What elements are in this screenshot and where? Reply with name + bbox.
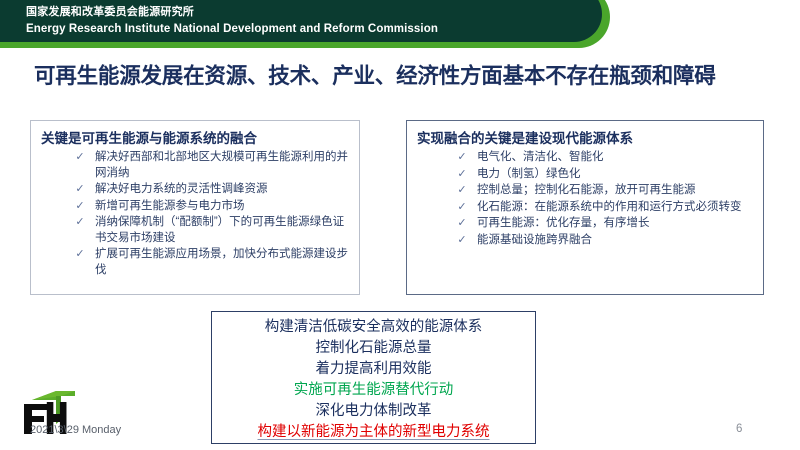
list-item-label: 能源基础设施跨界融合	[477, 233, 763, 249]
right-box-heading: 实现融合的关键是建设现代能源体系	[417, 127, 763, 147]
list-item-label: 可再生能源：优化存量，有序增长	[477, 216, 763, 232]
page-number: 6	[736, 423, 742, 435]
check-icon: ✓	[73, 199, 87, 215]
summary-line: 深化电力体制改革	[212, 401, 535, 422]
list-item: ✓ 解决好西部和北部地区大规模可再生能源利用的并网消纳	[31, 150, 359, 181]
check-icon: ✓	[455, 200, 469, 216]
check-icon: ✓	[455, 167, 469, 183]
date-label: 2021\3\29 Monday	[30, 424, 121, 436]
list-item: ✓ 可再生能源：优化存量，有序增长	[407, 216, 763, 232]
list-item-label: 扩展可再生能源应用场景，加快分布式能源建设步伐	[95, 247, 359, 278]
summary-line: 构建清洁低碳安全高效的能源体系	[212, 317, 535, 338]
list-item-label: 消纳保障机制（“配额制”）下的可再生能源绿色证书交易市场建设	[95, 215, 359, 246]
list-item-label: 化石能源：在能源系统中的作用和运行方式必须转变	[477, 200, 763, 216]
check-icon: ✓	[455, 183, 469, 199]
check-icon: ✓	[73, 215, 87, 231]
list-item-label: 电气化、清洁化、智能化	[477, 150, 763, 166]
left-content-box: 关键是可再生能源与能源系统的融合 ✓ 解决好西部和北部地区大规模可再生能源利用的…	[30, 120, 360, 295]
right-content-box: 实现融合的关键是建设现代能源体系 ✓ 电气化、清洁化、智能化 ✓ 电力（制氢）绿…	[406, 120, 764, 295]
left-box-bullet-list: ✓ 解决好西部和北部地区大规模可再生能源利用的并网消纳 ✓ 解决好电力系统的灵活…	[31, 150, 359, 278]
check-icon: ✓	[73, 182, 87, 198]
header-text-group: 国家发展和改革委员会能源研究所 Energy Research Institut…	[26, 5, 438, 37]
list-item-label: 电力（制氢）绿色化	[477, 167, 763, 183]
page-header: 国家发展和改革委员会能源研究所 Energy Research Institut…	[0, 0, 620, 48]
list-item: ✓ 化石能源：在能源系统中的作用和运行方式必须转变	[407, 200, 763, 216]
summary-line-highlight-green: 实施可再生能源替代行动	[212, 380, 535, 401]
list-item: ✓ 能源基础设施跨界融合	[407, 233, 763, 249]
check-icon: ✓	[455, 216, 469, 232]
check-icon: ✓	[455, 233, 469, 249]
summary-line: 控制化石能源总量	[212, 338, 535, 359]
list-item: ✓ 电气化、清洁化、智能化	[407, 150, 763, 166]
list-item-label: 控制总量；控制化石能源，放开可再生能源	[477, 183, 763, 199]
list-item-label: 解决好西部和北部地区大规模可再生能源利用的并网消纳	[95, 150, 359, 181]
list-item: ✓ 扩展可再生能源应用场景，加快分布式能源建设步伐	[31, 247, 359, 278]
check-icon: ✓	[455, 150, 469, 166]
list-item: ✓ 消纳保障机制（“配额制”）下的可再生能源绿色证书交易市场建设	[31, 215, 359, 246]
slide-title: 可再生能源发展在资源、技术、产业、经济性方面基本不存在瓶颈和障碍	[34, 59, 794, 90]
list-item: ✓ 电力（制氢）绿色化	[407, 167, 763, 183]
summary-line-highlight-red: 构建以新能源为主体的新型电力系统	[212, 422, 535, 443]
left-box-heading: 关键是可再生能源与能源系统的融合	[41, 127, 359, 147]
list-item-label: 新增可再生能源参与电力市场	[95, 199, 359, 215]
right-box-bullet-list: ✓ 电气化、清洁化、智能化 ✓ 电力（制氢）绿色化 ✓ 控制总量；控制化石能源，…	[407, 150, 763, 248]
header-title-chinese: 国家发展和改革委员会能源研究所	[26, 5, 438, 20]
list-item-label: 解决好电力系统的灵活性调峰资源	[95, 182, 359, 198]
check-icon: ✓	[73, 247, 87, 263]
list-item: ✓ 解决好电力系统的灵活性调峰资源	[31, 182, 359, 198]
list-item: ✓ 控制总量；控制化石能源，放开可再生能源	[407, 183, 763, 199]
list-item: ✓ 新增可再生能源参与电力市场	[31, 199, 359, 215]
bottom-summary-box: 构建清洁低碳安全高效的能源体系 控制化石能源总量 着力提高利用效能 实施可再生能…	[211, 311, 536, 444]
header-title-english: Energy Research Institute National Devel…	[26, 21, 438, 37]
summary-line: 着力提高利用效能	[212, 359, 535, 380]
check-icon: ✓	[73, 150, 87, 166]
